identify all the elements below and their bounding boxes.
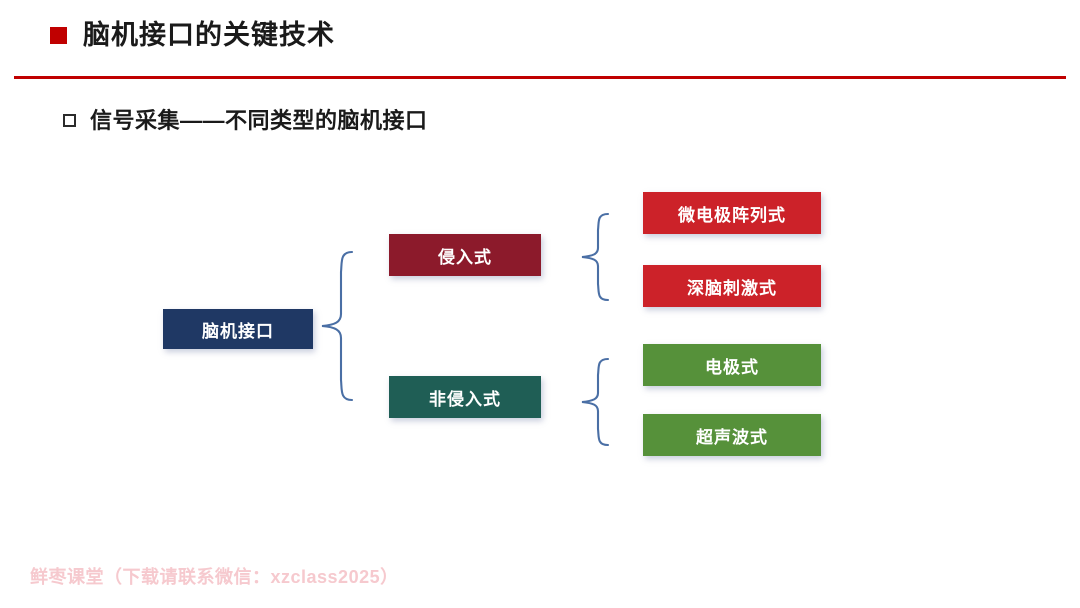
node-noninvasive[interactable]: 非侵入式 — [389, 376, 541, 418]
watermark: 鲜枣课堂（下载请联系微信：xzclass2025） — [30, 563, 399, 589]
node-noninvasive-label: 非侵入式 — [429, 385, 501, 410]
node-root-label: 脑机接口 — [202, 317, 274, 342]
node-microelectrode-array[interactable]: 微电极阵列式 — [643, 192, 821, 234]
node-electrode-type[interactable]: 电极式 — [643, 344, 821, 386]
node-ultrasound-type[interactable]: 超声波式 — [643, 414, 821, 456]
node-deep-brain-stimulation-label: 深脑刺激式 — [687, 274, 777, 299]
brace-noninvasive-icon — [578, 355, 614, 449]
brace-invasive-icon — [578, 210, 614, 304]
brace-root-icon — [318, 248, 358, 404]
slide-canvas: 脑机接口的关键技术 信号采集——不同类型的脑机接口 脑机接口 侵入式 非侵入式 — [0, 0, 1080, 608]
node-invasive[interactable]: 侵入式 — [389, 234, 541, 276]
node-invasive-label: 侵入式 — [438, 243, 492, 268]
bci-taxonomy-diagram: 脑机接口 侵入式 非侵入式 微电极阵列式 深脑刺激式 电极式 — [0, 0, 1080, 608]
node-root-bci[interactable]: 脑机接口 — [163, 309, 313, 349]
node-microelectrode-array-label: 微电极阵列式 — [678, 201, 786, 226]
node-deep-brain-stimulation[interactable]: 深脑刺激式 — [643, 265, 821, 307]
node-ultrasound-type-label: 超声波式 — [696, 423, 768, 448]
node-electrode-type-label: 电极式 — [705, 353, 759, 378]
